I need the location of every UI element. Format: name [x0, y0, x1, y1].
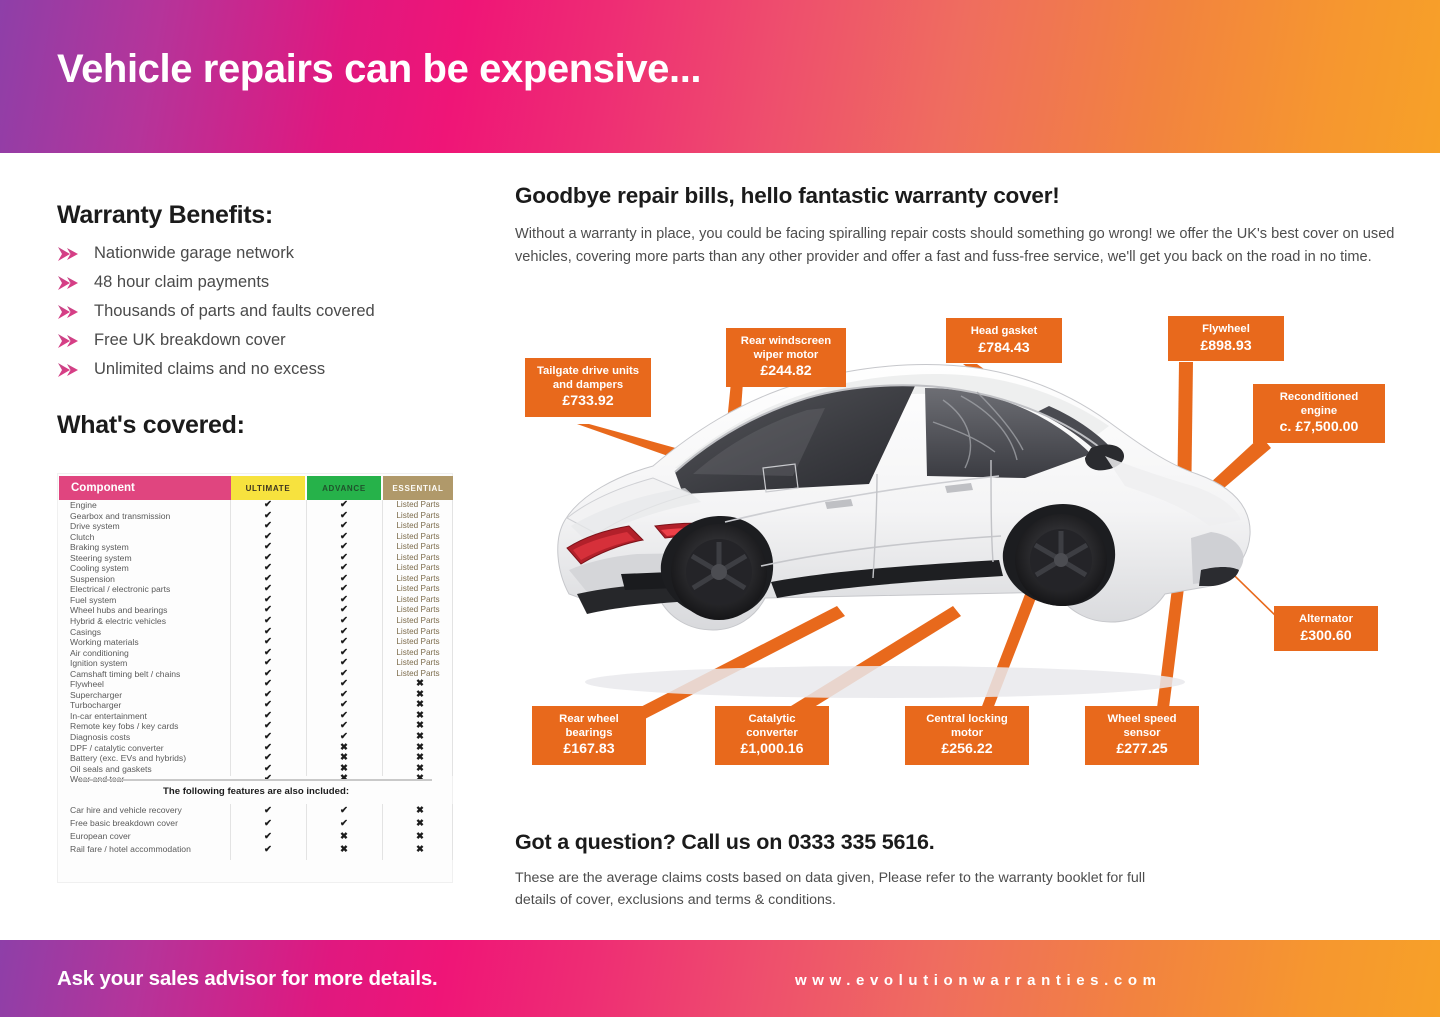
cell-ultimate: ✔: [231, 817, 305, 830]
cell-essential: Listed Parts: [383, 648, 453, 659]
table-row: Cooling system✔✔Listed Parts: [58, 563, 454, 574]
cell-component: Fuel system: [70, 595, 116, 606]
cell-essential: ✖: [383, 843, 457, 856]
cell-essential: Listed Parts: [383, 616, 453, 627]
cell-essential: ✖: [383, 830, 457, 843]
cell-component: Supercharger: [70, 690, 122, 701]
cell-component: Oil seals and gaskets: [70, 764, 152, 775]
footer-banner: Ask your sales advisor for more details.…: [0, 940, 1440, 1017]
cell-component: Camshaft timing belt / chains: [70, 669, 180, 680]
callout-flywheel: Flywheel £898.93: [1168, 316, 1284, 361]
cell-component: Rail fare / hotel accommodation: [70, 843, 191, 856]
callout-head-gasket: Head gasket £784.43: [946, 318, 1062, 363]
coverage-extra-body: Car hire and vehicle recovery✔✔✖Free bas…: [58, 804, 454, 860]
footer-tagline: Ask your sales advisor for more details.: [57, 967, 438, 991]
cell-component: Diagnosis costs: [70, 732, 130, 743]
cell-component: Braking system: [70, 542, 129, 553]
callout-rear-wheel-bearings: Rear wheel bearings £167.83: [532, 706, 646, 765]
table-row: Flywheel✔✔✖: [58, 679, 454, 690]
cell-component: Electrical / electronic parts: [70, 584, 170, 595]
cell-component: Wheel hubs and bearings: [70, 605, 167, 616]
cell-essential: Listed Parts: [383, 658, 453, 669]
benefit-item-label: Thousands of parts and faults covered: [94, 302, 375, 321]
cell-advance: ✖: [307, 843, 381, 856]
cell-component: Clutch: [70, 532, 94, 543]
callout-tailgate: Tailgate drive units and dampers £733.92: [525, 358, 651, 417]
callout-central-locking: Central locking motor £256.22: [905, 706, 1029, 765]
column-header-essential: ESSENTIAL: [383, 476, 453, 500]
table-row: Camshaft timing belt / chains✔✔Listed Pa…: [58, 669, 454, 680]
cell-component: DPF / catalytic converter: [70, 743, 164, 754]
benefit-item-label: Free UK breakdown cover: [94, 331, 286, 350]
callout-rear-wiper: Rear windscreen wiper motor £244.82: [726, 328, 846, 387]
table-row: Clutch✔✔Listed Parts: [58, 532, 454, 543]
table-row: Electrical / electronic parts✔✔Listed Pa…: [58, 584, 454, 595]
benefit-item-label: Nationwide garage network: [94, 244, 294, 263]
table-row: Fuel system✔✔Listed Parts: [58, 595, 454, 606]
cell-component: Working materials: [70, 637, 139, 648]
poster-page: Vehicle repairs can be expensive... Warr…: [0, 0, 1440, 1017]
question-body: These are the average claims costs based…: [515, 868, 1155, 911]
cell-component: Gearbox and transmission: [70, 511, 170, 522]
table-row: Braking system✔✔Listed Parts: [58, 542, 454, 553]
cell-component: Drive system: [70, 521, 120, 532]
benefits-list: Nationwide garage network48 hour claim p…: [57, 239, 477, 384]
table-row: In-car entertainment✔✔✖: [58, 711, 454, 722]
chevron-right-icon: [57, 362, 79, 378]
cell-component: Free basic breakdown cover: [70, 817, 178, 830]
callout-catalytic-converter: Catalytic converter £1,000.16: [715, 706, 829, 765]
column-header-ultimate: ULTIMATE: [231, 476, 305, 500]
cell-essential: Listed Parts: [383, 584, 453, 595]
table-row: Supercharger✔✔✖: [58, 690, 454, 701]
cell-essential: ✖: [383, 732, 457, 743]
cell-advance: ✔: [307, 817, 381, 830]
cell-essential: Listed Parts: [383, 521, 453, 532]
cell-essential: Listed Parts: [383, 532, 453, 543]
table-row: Drive system✔✔Listed Parts: [58, 521, 454, 532]
cell-component: Steering system: [70, 553, 132, 564]
benefit-item: 48 hour claim payments: [57, 268, 477, 297]
covered-heading: What's covered:: [57, 411, 245, 440]
cell-essential: Listed Parts: [383, 511, 453, 522]
table-row: Casings✔✔Listed Parts: [58, 627, 454, 638]
table-row: Hybrid & electric vehicles✔✔Listed Parts: [58, 616, 454, 627]
chevron-right-icon: [57, 275, 79, 291]
cell-component: Air conditioning: [70, 648, 129, 659]
cell-essential: Listed Parts: [383, 500, 453, 511]
cell-advance: ✔: [307, 804, 381, 817]
cell-component: Engine: [70, 500, 97, 511]
cell-ultimate: ✔: [231, 843, 305, 856]
table-row: Turbocharger✔✔✖: [58, 700, 454, 711]
table-row: Steering system✔✔Listed Parts: [58, 553, 454, 564]
cell-advance: ✔: [307, 732, 381, 743]
question-heading: Got a question? Call us on 0333 335 5616…: [515, 830, 935, 855]
cell-essential: Listed Parts: [383, 627, 453, 638]
table-row: DPF / catalytic converter✔✖✖: [58, 743, 454, 754]
cell-component: Car hire and vehicle recovery: [70, 804, 182, 817]
table-row: Air conditioning✔✔Listed Parts: [58, 648, 454, 659]
cell-component: Suspension: [70, 574, 115, 585]
table-row: Ignition system✔✔Listed Parts: [58, 658, 454, 669]
cell-essential: ✖: [383, 817, 457, 830]
header-banner: Vehicle repairs can be expensive...: [0, 0, 1440, 153]
cell-ultimate: ✔: [231, 616, 305, 627]
extra-features-heading: The following features are also included…: [58, 786, 454, 797]
cell-ultimate: ✔: [231, 830, 305, 843]
cell-essential: Listed Parts: [383, 595, 453, 606]
cell-ultimate: ✔: [231, 804, 305, 817]
body-area: Warranty Benefits: Nationwide garage net…: [0, 153, 1440, 940]
coverage-section-divider: [80, 779, 432, 781]
cell-essential: Listed Parts: [383, 563, 453, 574]
table-row: Free basic breakdown cover✔✔✖: [58, 817, 454, 830]
cell-advance: ✔: [307, 616, 381, 627]
coverage-table-header: Component ULTIMATE ADVANCE ESSENTIAL: [58, 474, 454, 500]
cell-essential: Listed Parts: [383, 553, 453, 564]
table-row: Wheel hubs and bearings✔✔Listed Parts: [58, 605, 454, 616]
benefit-item: Nationwide garage network: [57, 239, 477, 268]
table-row: Working materials✔✔Listed Parts: [58, 637, 454, 648]
lead-body: Without a warranty in place, you could b…: [515, 223, 1395, 268]
table-row: Gearbox and transmission✔✔Listed Parts: [58, 511, 454, 522]
cell-advance: ✖: [307, 830, 381, 843]
benefit-item: Thousands of parts and faults covered: [57, 297, 477, 326]
column-header-advance: ADVANCE: [307, 476, 381, 500]
callout-wheel-speed-sensor: Wheel speed sensor £277.25: [1085, 706, 1199, 765]
cell-advance: ✔: [307, 500, 381, 511]
table-row: Oil seals and gaskets✔✖✖: [58, 764, 454, 775]
cell-ultimate: ✔: [231, 732, 305, 743]
benefit-item-label: Unlimited claims and no excess: [94, 360, 325, 379]
cell-essential: ✖: [383, 804, 457, 817]
coverage-table: Component ULTIMATE ADVANCE ESSENTIAL Eng…: [57, 473, 453, 883]
cell-essential: Listed Parts: [383, 542, 453, 553]
car-diagram: Tailgate drive units and dampers £733.92…: [515, 316, 1405, 806]
cell-essential: Listed Parts: [383, 605, 453, 616]
benefit-item: Free UK breakdown cover: [57, 326, 477, 355]
table-row: Diagnosis costs✔✔✖: [58, 732, 454, 743]
table-row: Suspension✔✔Listed Parts: [58, 574, 454, 585]
callout-recon-engine: Reconditioned engine c. £7,500.00: [1253, 384, 1385, 443]
cell-ultimate: ✔: [231, 500, 305, 511]
cell-component: Casings: [70, 627, 101, 638]
benefits-heading: Warranty Benefits:: [57, 201, 273, 230]
table-row: Remote key fobs / key cards✔✔✖: [58, 721, 454, 732]
callout-alternator: Alternator £300.60: [1274, 606, 1378, 651]
cell-component: Hybrid & electric vehicles: [70, 616, 166, 627]
table-row: Car hire and vehicle recovery✔✔✖: [58, 804, 454, 817]
cell-component: In-car entertainment: [70, 711, 147, 722]
chevron-right-icon: [57, 246, 79, 262]
chevron-right-icon: [57, 333, 79, 349]
benefit-item: Unlimited claims and no excess: [57, 355, 477, 384]
coverage-table-body: Engine✔✔Listed PartsGearbox and transmis…: [58, 500, 454, 776]
cell-component: Remote key fobs / key cards: [70, 721, 178, 732]
cell-component: Ignition system: [70, 658, 127, 669]
cell-component: Flywheel: [70, 679, 104, 690]
cell-component: Cooling system: [70, 563, 129, 574]
page-title: Vehicle repairs can be expensive...: [57, 47, 701, 92]
chevron-right-icon: [57, 304, 79, 320]
cell-component: European cover: [70, 830, 131, 843]
cell-component: Turbocharger: [70, 700, 121, 711]
cell-essential: Listed Parts: [383, 637, 453, 648]
cell-essential: Listed Parts: [383, 574, 453, 585]
footer-url[interactable]: www.evolutionwarranties.com: [795, 972, 1162, 989]
table-row: Battery (exc. EVs and hybrids)✔✖✖: [58, 753, 454, 764]
table-row: European cover✔✖✖: [58, 830, 454, 843]
table-row: Rail fare / hotel accommodation✔✖✖: [58, 843, 454, 856]
column-header-component: Component: [59, 476, 231, 500]
benefit-item-label: 48 hour claim payments: [94, 273, 269, 292]
lead-heading: Goodbye repair bills, hello fantastic wa…: [515, 183, 1060, 209]
cell-component: Battery (exc. EVs and hybrids): [70, 753, 186, 764]
table-row: Engine✔✔Listed Parts: [58, 500, 454, 511]
